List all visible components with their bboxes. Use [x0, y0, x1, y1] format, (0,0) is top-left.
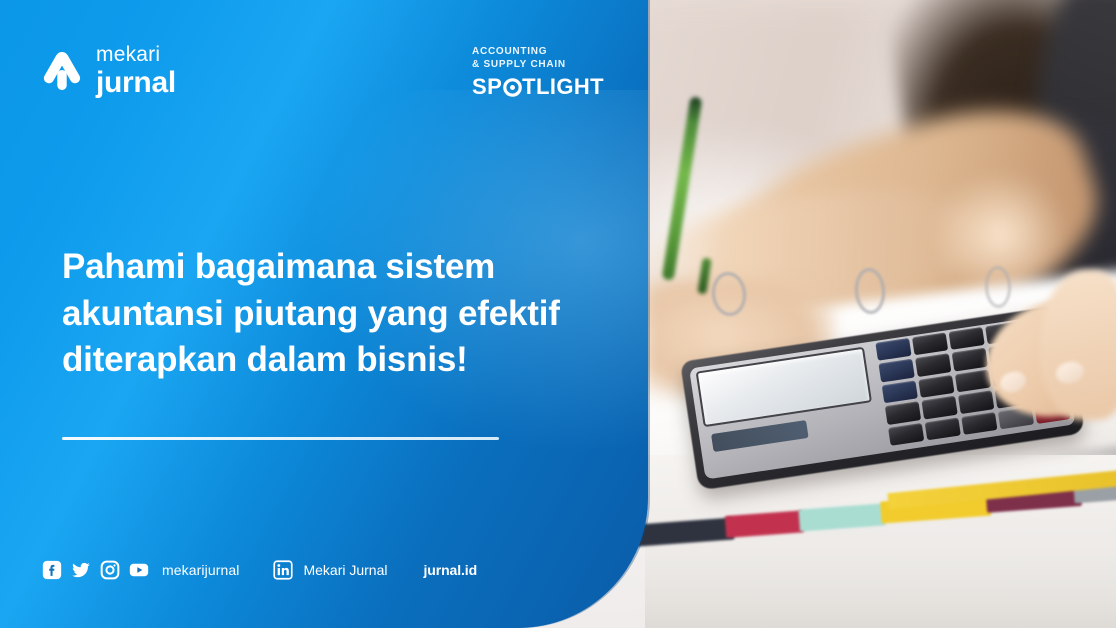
blue-content-panel: mekari jurnal ACCOUNTING & SUPPLY CHAIN …: [0, 0, 648, 628]
divider-line: [62, 437, 499, 440]
desk-surface: [645, 556, 1116, 628]
linkedin-group[interactable]: Mekari Jurnal: [273, 560, 387, 580]
website-url[interactable]: jurnal.id: [423, 562, 477, 578]
logo-mekari-text: mekari: [96, 44, 176, 65]
social-handle: mekarijurnal: [162, 562, 239, 578]
footer-bar: mekarijurnal Mekari Jurnal jurnal.id: [42, 556, 477, 584]
social-icon-group: [42, 560, 149, 580]
spotlight-badge: ACCOUNTING & SUPPLY CHAIN SP TLIGHT: [472, 46, 604, 100]
instagram-icon[interactable]: [100, 560, 120, 580]
badge-line-1: ACCOUNTING: [472, 46, 604, 59]
mekari-chevron-mark-icon: [42, 48, 82, 94]
badge-title-suffix: TLIGHT: [522, 74, 604, 100]
badge-line-2: & SUPPLY CHAIN: [472, 59, 604, 72]
page-title: Pahami bagaimana sistem akuntansi piutan…: [62, 244, 592, 384]
youtube-icon[interactable]: [129, 560, 149, 580]
badge-title: SP TLIGHT: [472, 74, 604, 100]
logo-wordmark: mekari jurnal: [96, 44, 176, 98]
file-tab: [725, 510, 804, 538]
badge-title-prefix: SP: [472, 74, 502, 100]
linkedin-icon[interactable]: [273, 560, 293, 580]
facebook-icon[interactable]: [42, 560, 62, 580]
spotlight-target-o-icon: [503, 78, 522, 97]
logo-jurnal-text: jurnal: [96, 68, 176, 98]
file-tab: [798, 503, 885, 531]
pressing-hand-fingers: [1040, 270, 1116, 420]
mekari-jurnal-logo[interactable]: mekari jurnal: [42, 44, 176, 98]
twitter-icon[interactable]: [71, 560, 91, 580]
linkedin-name: Mekari Jurnal: [303, 562, 387, 578]
promo-banner: mekari jurnal ACCOUNTING & SUPPLY CHAIN …: [0, 0, 1116, 628]
